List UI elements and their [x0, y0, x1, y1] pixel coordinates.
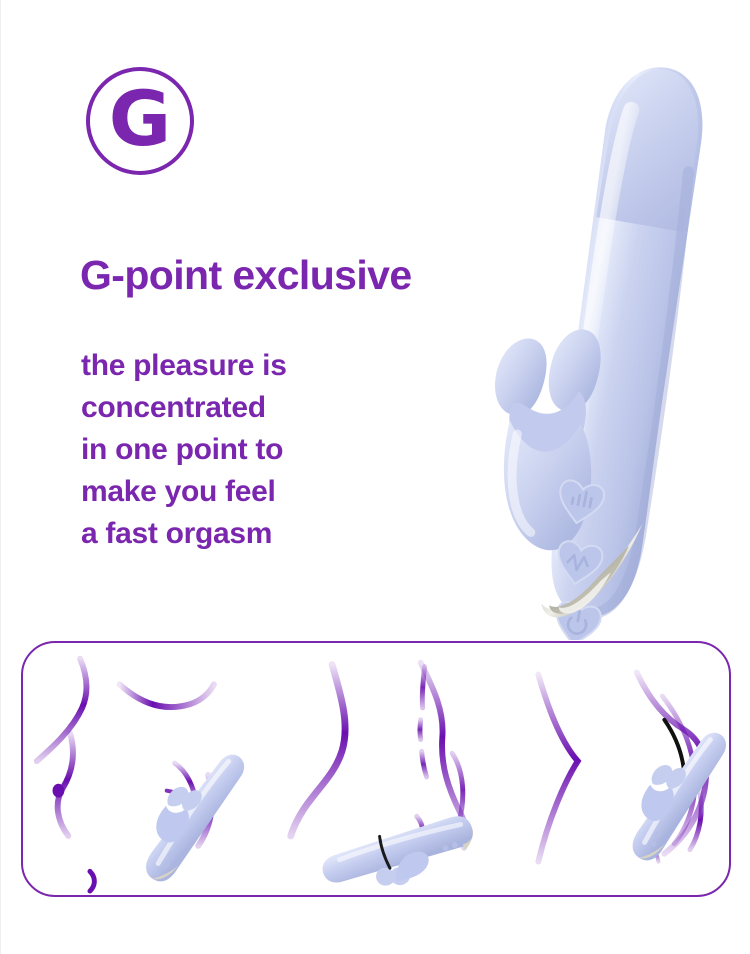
scene-product [123, 737, 252, 888]
body-copy-line: a fast orgasm [81, 513, 381, 555]
usage-scene-torso [275, 643, 525, 895]
promo-page: G G-point exclusive the pleasure is conc… [0, 0, 750, 954]
body-copy-line: the pleasure is [81, 345, 381, 387]
usage-panel [21, 641, 731, 897]
usage-scene-reclining [23, 643, 275, 895]
brand-badge-circle-icon: G [86, 67, 194, 175]
body-copy: the pleasure is concentrated in one poin… [81, 345, 381, 555]
scene-product [318, 808, 482, 895]
body-copy-line: make you feel [81, 471, 381, 513]
page-title: G-point exclusive [80, 252, 412, 299]
usage-scene-hip [515, 643, 731, 895]
brand-badge-letter: G [109, 81, 171, 157]
body-copy-line: concentrated [81, 387, 381, 429]
body-copy-line: in one point to [81, 429, 381, 471]
scene-product [610, 715, 731, 866]
hero-product-image [469, 40, 750, 640]
